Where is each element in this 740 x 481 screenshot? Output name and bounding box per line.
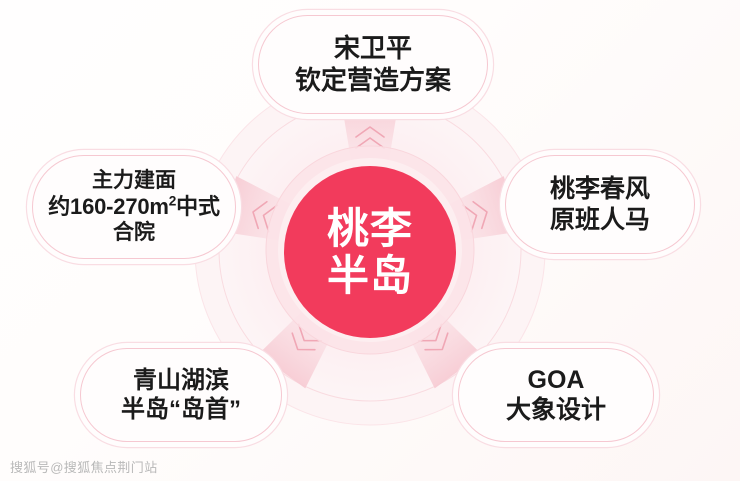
bubble-song-weiping-line-2: 钦定营造方案: [295, 65, 451, 97]
bubble-qingshan-lake-line-1: 青山湖滨: [133, 366, 229, 395]
bubble-main-area-line-1: 主力建面: [92, 168, 176, 194]
bubble-taoli-chunfeng-line-2: 原班人马: [550, 205, 650, 236]
bubble-main-area-line-2: 约160-270m2中式: [48, 194, 220, 221]
bubble-taoli-chunfeng-line-1: 桃李春风: [550, 174, 650, 205]
center-hub-line-2: 半岛: [327, 252, 413, 299]
bubble-main-area-line-3: 合院: [113, 220, 155, 246]
bubble-main-area[interactable]: 主力建面 约160-270m2中式 合院: [32, 155, 236, 259]
infographic-canvas: 桃李 半岛 宋卫平 钦定营造方案 主力建面 约160-270m2中式 合院 桃李…: [0, 0, 740, 481]
bubble-qingshan-lake[interactable]: 青山湖滨 半岛“岛首”: [80, 348, 282, 442]
center-hub-line-1: 桃李: [327, 205, 413, 252]
watermark-text: 搜狐号@搜狐焦点荆门站: [10, 457, 158, 476]
bubble-song-weiping[interactable]: 宋卫平 钦定营造方案: [258, 15, 488, 114]
bubble-main-area-line-2-prefix: 约160-270m: [48, 194, 169, 219]
bubble-goa-design-line-1: GOA: [528, 365, 585, 396]
bubble-song-weiping-line-1: 宋卫平: [334, 33, 412, 65]
bubble-qingshan-lake-line-2: 半岛“岛首”: [121, 395, 241, 424]
bubble-main-area-line-2-suffix: 中式: [176, 194, 220, 219]
bubble-goa-design-line-2: 大象设计: [506, 395, 606, 426]
bubble-goa-design[interactable]: GOA 大象设计: [458, 348, 654, 442]
bubble-taoli-chunfeng[interactable]: 桃李春风 原班人马: [505, 155, 695, 254]
center-hub: 桃李 半岛: [284, 166, 456, 338]
